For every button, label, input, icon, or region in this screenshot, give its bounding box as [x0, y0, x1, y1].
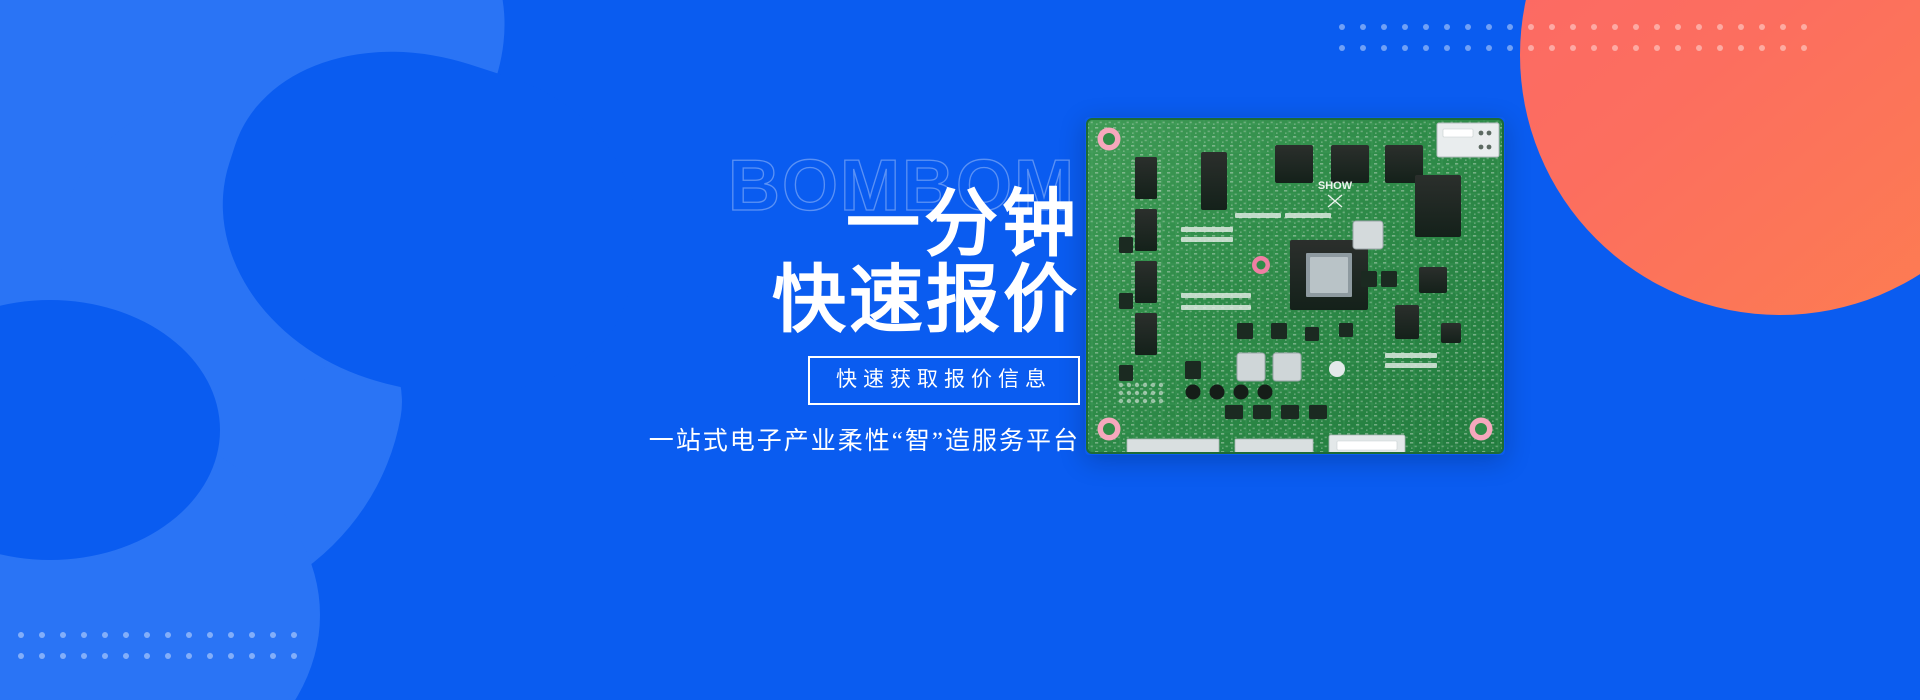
pcb-svg: SHOW [1085, 117, 1505, 455]
dot [1360, 24, 1366, 30]
headline-line-2: 快速报价 [560, 262, 1080, 338]
dot [165, 632, 171, 638]
dot [1801, 45, 1807, 51]
dot [102, 632, 108, 638]
dot [1402, 45, 1408, 51]
dot [291, 653, 297, 659]
dot [1549, 45, 1555, 51]
dot [1801, 24, 1807, 30]
banner-text-block: BOMBOM 一分钟 快速报价 快速获取报价信息 一站式电子产业柔性“智”造服务… [560, 150, 1080, 457]
dot-grid-bottom-left [18, 632, 312, 674]
dot [123, 653, 129, 659]
dot [1591, 45, 1597, 51]
dot [1528, 45, 1534, 51]
dot [1402, 24, 1408, 30]
dot [228, 653, 234, 659]
dot [207, 653, 213, 659]
dot [1612, 24, 1618, 30]
dot [1591, 24, 1597, 30]
dot [1465, 45, 1471, 51]
dot [1486, 24, 1492, 30]
dot [1381, 45, 1387, 51]
dot [165, 653, 171, 659]
dot [1381, 24, 1387, 30]
dot [60, 653, 66, 659]
dot [1339, 24, 1345, 30]
dot [18, 632, 24, 638]
dot [1633, 24, 1639, 30]
dot-grid-top-right [1339, 24, 1822, 66]
dot [39, 653, 45, 659]
dot [1360, 45, 1366, 51]
dot [1444, 24, 1450, 30]
dot [1759, 24, 1765, 30]
dot [1570, 24, 1576, 30]
dot [1549, 24, 1555, 30]
dot [1780, 24, 1786, 30]
dot [1612, 45, 1618, 51]
dot [186, 653, 192, 659]
dot [123, 632, 129, 638]
dot [1633, 45, 1639, 51]
dot [18, 653, 24, 659]
dot [270, 632, 276, 638]
dot [1654, 45, 1660, 51]
dot [1423, 24, 1429, 30]
dot [1528, 24, 1534, 30]
dot [60, 632, 66, 638]
dot [249, 632, 255, 638]
dot [1780, 45, 1786, 51]
circuit-board-image: SHOW [1085, 117, 1505, 455]
dot [144, 632, 150, 638]
dot [102, 653, 108, 659]
page-title: 一分钟 快速报价 [560, 186, 1080, 338]
dot [291, 632, 297, 638]
dot [1717, 24, 1723, 30]
dot [1444, 45, 1450, 51]
dot [1675, 45, 1681, 51]
dot [81, 653, 87, 659]
dot [228, 632, 234, 638]
dot [39, 632, 45, 638]
usb-connector [1437, 123, 1499, 157]
dot [1507, 24, 1513, 30]
dot [1696, 45, 1702, 51]
dot [1570, 45, 1576, 51]
dot [1759, 45, 1765, 51]
dot [144, 653, 150, 659]
dot [1717, 45, 1723, 51]
dot [207, 632, 213, 638]
tagline: 一站式电子产业柔性“智”造服务平台 [560, 421, 1080, 457]
dot [1696, 24, 1702, 30]
dot [1738, 45, 1744, 51]
dot [270, 653, 276, 659]
cpu-package [1290, 240, 1368, 310]
dot [186, 632, 192, 638]
dot [1339, 45, 1345, 51]
dot [1423, 45, 1429, 51]
dot [1507, 45, 1513, 51]
dot [1465, 24, 1471, 30]
headline-line-1: 一分钟 [846, 182, 1080, 265]
dot [81, 632, 87, 638]
dot [1654, 24, 1660, 30]
dot [249, 653, 255, 659]
dot [1486, 45, 1492, 51]
dot [1738, 24, 1744, 30]
dot [1675, 24, 1681, 30]
svg-text:SHOW: SHOW [1318, 180, 1353, 192]
promo-banner: BOMBOM 一分钟 快速报价 快速获取报价信息 一站式电子产业柔性“智”造服务… [0, 0, 1920, 700]
get-quote-button[interactable]: 快速获取报价信息 [808, 356, 1080, 404]
